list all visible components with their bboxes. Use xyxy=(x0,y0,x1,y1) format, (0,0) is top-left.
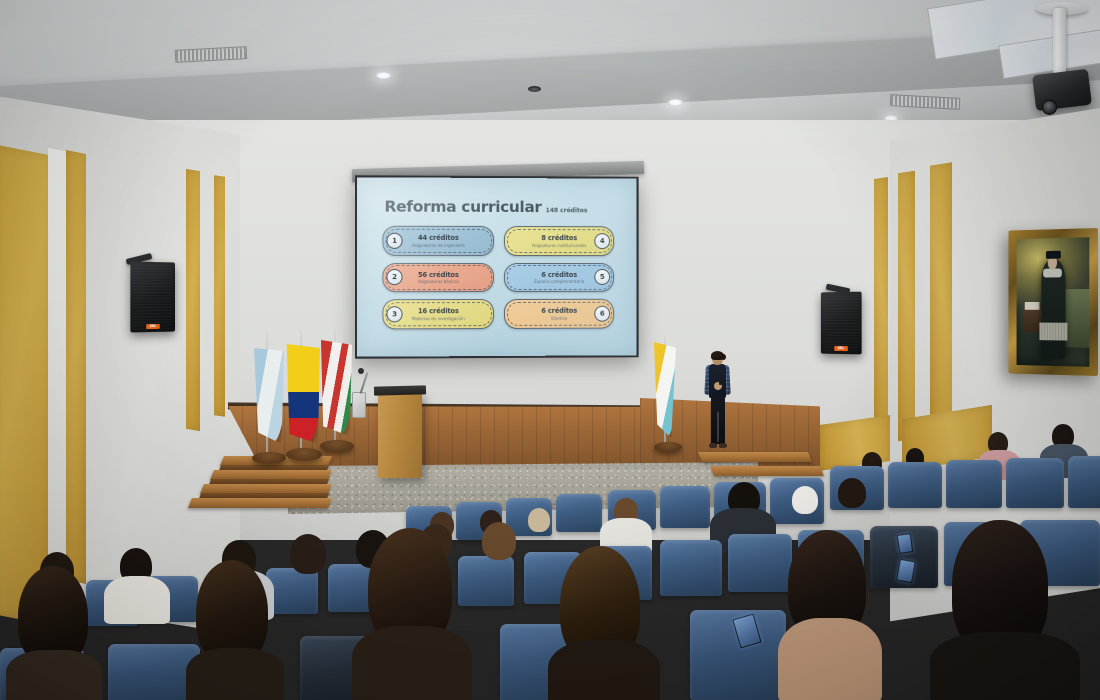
slide-credit-box-grid: 1 44 créditos Asignaturas de ingeniería … xyxy=(382,226,614,330)
jbl-logo: JBL xyxy=(146,324,160,329)
credit-box-number: 5 xyxy=(594,269,610,285)
auditorium-scene: Reforma curricular 148 créditos 1 44 cré… xyxy=(0,0,1100,700)
ceiling-downlight xyxy=(376,72,391,79)
credit-box-1: 1 44 créditos Asignaturas de ingeniería xyxy=(382,226,494,256)
projector xyxy=(1032,69,1092,112)
audience-body-foreground xyxy=(352,626,472,700)
presenter-torso xyxy=(709,364,726,398)
flag-base xyxy=(654,442,682,452)
audience-body-foreground xyxy=(930,632,1080,700)
ceiling-downlight xyxy=(528,86,541,92)
stage-step-right xyxy=(710,466,824,476)
presenter-hair-bun xyxy=(721,354,726,360)
presenter-shoe-left xyxy=(709,443,717,448)
flag-red-white-green xyxy=(320,340,352,436)
audience-seat xyxy=(556,494,602,532)
audience-body-foreground xyxy=(186,648,284,700)
stage-step xyxy=(188,498,332,508)
audience-seat xyxy=(728,534,792,592)
credit-box-credits: 6 créditos xyxy=(521,307,597,315)
acoustic-wall-panel xyxy=(214,175,225,417)
audience-body-foreground xyxy=(778,618,882,700)
audience-head xyxy=(482,522,516,560)
painting-book xyxy=(1025,302,1039,310)
credit-box-detail: Espacio complementario xyxy=(521,279,597,284)
audience-seat xyxy=(1068,456,1100,508)
audience-body xyxy=(104,576,170,624)
credit-box-detail: Asignaturas de ingeniería xyxy=(400,242,477,247)
credit-box-number: 1 xyxy=(386,233,402,249)
slide-title-sub: 148 créditos xyxy=(546,207,588,214)
credit-box-credits: 8 créditos xyxy=(521,234,597,242)
presenter xyxy=(700,352,734,454)
credit-box-detail: Asignaturas institucionales xyxy=(521,243,597,248)
credit-box-6: 6 6 créditos Electiva xyxy=(504,299,614,329)
lectern xyxy=(378,392,422,478)
painting-figure-collar xyxy=(1043,269,1062,278)
lectern-microphone xyxy=(358,368,364,374)
podium-side-equipment xyxy=(352,392,366,418)
acoustic-wall-panel xyxy=(186,169,200,431)
acoustic-wall-panel xyxy=(0,144,52,625)
audience-body-foreground xyxy=(6,650,102,700)
painting-canvas xyxy=(1017,237,1090,367)
credit-box-number: 4 xyxy=(594,233,610,249)
credit-box-credits: 16 créditos xyxy=(400,307,477,315)
credit-box-number: 2 xyxy=(386,269,402,285)
speaker-grille xyxy=(133,265,172,330)
audience-seat xyxy=(1006,458,1064,508)
painting-figure-hat xyxy=(1046,251,1061,259)
jbl-logo: JBL xyxy=(834,346,848,351)
credit-box-2: 2 56 créditos Asignaturas básicas xyxy=(382,263,494,293)
audience-body-foreground xyxy=(548,640,660,700)
ceiling-downlight xyxy=(668,99,683,106)
speaker-right: JBL xyxy=(821,292,862,355)
audience-head xyxy=(290,534,326,574)
audience-head xyxy=(838,478,866,508)
flag-base xyxy=(252,452,286,464)
credit-box-number: 6 xyxy=(594,306,610,322)
acoustic-wall-panel xyxy=(874,177,888,437)
projector-pole xyxy=(1053,8,1066,80)
flag-base xyxy=(320,440,354,452)
credit-box-credits: 6 créditos xyxy=(521,270,597,278)
presenter-leg-gap xyxy=(717,412,719,442)
credit-box-5: 5 6 créditos Espacio complementario xyxy=(504,263,614,293)
credit-box-4: 4 8 créditos Asignaturas institucionales xyxy=(504,226,614,256)
audience-seat xyxy=(458,556,514,606)
flag-colombia xyxy=(286,344,320,444)
credit-box-3: 3 16 créditos Materias de investigación xyxy=(382,299,494,329)
speaker-left: JBL xyxy=(130,262,175,333)
presenter-shoe-right xyxy=(719,443,727,448)
presentation-slide: Reforma curricular 148 créditos 1 44 cré… xyxy=(357,177,637,356)
flag-light-blue-white xyxy=(254,348,284,444)
audience-seat xyxy=(946,460,1002,508)
audience-seat xyxy=(660,540,722,596)
credit-box-credits: 56 créditos xyxy=(400,271,477,279)
acoustic-wall-panel xyxy=(930,162,952,445)
credit-box-credits: 44 créditos xyxy=(400,234,477,242)
credit-box-detail: Electiva xyxy=(521,316,597,321)
audience-head xyxy=(528,508,550,532)
credit-box-number: 3 xyxy=(386,306,402,322)
audience-seat xyxy=(888,462,942,508)
lectern-top xyxy=(374,385,426,395)
audience-head xyxy=(792,486,818,514)
painting-figure-lace xyxy=(1039,322,1067,340)
credit-box-detail: Asignaturas básicas xyxy=(400,279,477,284)
slide-title-main: Reforma curricular xyxy=(384,198,541,217)
acoustic-wall-panel xyxy=(898,171,915,442)
slide-title: Reforma curricular 148 créditos xyxy=(384,198,587,217)
speaker-grille xyxy=(824,295,859,352)
flag-base xyxy=(286,448,322,461)
credit-box-detail: Materias de investigación xyxy=(400,316,477,322)
framed-portrait-painting xyxy=(1008,228,1098,376)
audience-seat xyxy=(660,486,710,528)
projector-lens xyxy=(1042,100,1057,115)
audience-phone[interactable] xyxy=(897,533,914,554)
handheld-microphone xyxy=(719,378,722,385)
